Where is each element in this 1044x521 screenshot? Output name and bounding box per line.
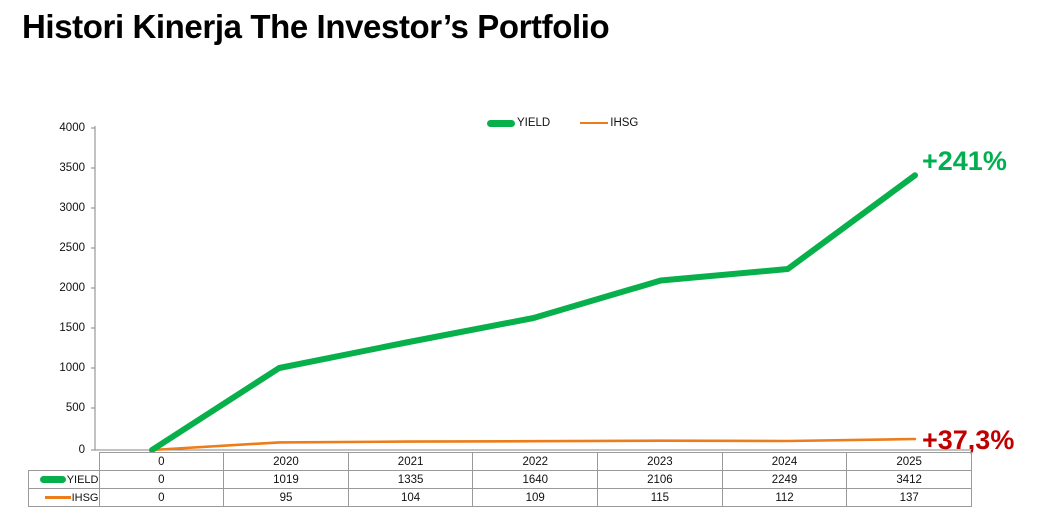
table-row-key-yield: YIELD: [29, 471, 100, 489]
table-cell: 115: [598, 489, 723, 507]
table-cell: 1640: [473, 471, 598, 489]
table-row-key-ihsg: IHSG: [29, 489, 100, 507]
y-axis-ticks: [91, 128, 95, 450]
table-row: IHSG 0 95 104 109 115 112 137: [29, 489, 972, 507]
series-line-ihsg: [152, 439, 915, 450]
chart-plot-area: YIELD IHSG 4000 3500 3000 2500 2000 1500…: [0, 105, 1044, 460]
table-cell: 0: [99, 471, 224, 489]
table-header-cell: 2024: [722, 453, 847, 471]
table-row-label-yield: YIELD: [67, 474, 99, 486]
series-line-yield: [152, 175, 915, 450]
table-cell: 1019: [224, 471, 349, 489]
chart-canvas: [0, 105, 1044, 460]
table-cell: 2249: [722, 471, 847, 489]
table-header-cell: 2020: [224, 453, 349, 471]
table-row-label-ihsg: IHSG: [72, 492, 99, 504]
table-header-cell: 2023: [598, 453, 723, 471]
table-cell: 0: [99, 489, 224, 507]
table-cell: 137: [847, 489, 972, 507]
table-cell: 109: [473, 489, 598, 507]
table-header-cell: 2022: [473, 453, 598, 471]
table-cell: 1335: [348, 471, 473, 489]
table-corner-cell: [29, 453, 100, 471]
page-title: Histori Kinerja The Investor’s Portfolio: [22, 8, 609, 46]
table-swatch-ihsg-icon: [45, 496, 71, 499]
table-cell: 95: [224, 489, 349, 507]
chart-data-table: 0 2020 2021 2022 2023 2024 2025 YIELD 0 …: [28, 452, 972, 507]
table-row-categories: 0 2020 2021 2022 2023 2024 2025: [29, 453, 972, 471]
table-row: YIELD 0 1019 1335 1640 2106 2249 3412: [29, 471, 972, 489]
table-cell: 3412: [847, 471, 972, 489]
table-swatch-yield-icon: [40, 476, 66, 483]
table-cell: 104: [348, 489, 473, 507]
table-header-cell: 2021: [348, 453, 473, 471]
table-header-cell: 2025: [847, 453, 972, 471]
table-cell: 2106: [598, 471, 723, 489]
table-cell: 112: [722, 489, 847, 507]
table-header-cell: 0: [99, 453, 224, 471]
annotation-yield-growth: +241%: [922, 146, 1007, 177]
